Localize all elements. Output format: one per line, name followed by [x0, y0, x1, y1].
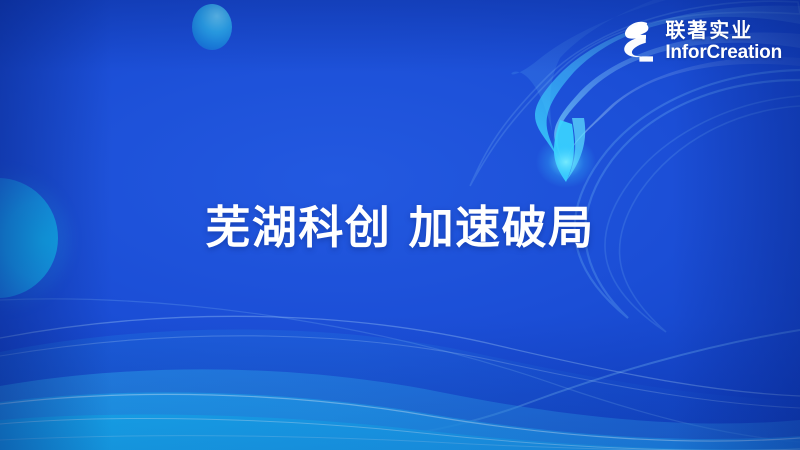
logo-company-cn: 联著实业 [665, 20, 782, 40]
slide-title-container: 芜湖科创 加速破局 [0, 191, 800, 256]
presentation-slide: 联著实业 InforCreation 芜湖科创 加速破局 [0, 0, 800, 450]
logo-company-en: InforCreation [665, 43, 782, 62]
company-logo: 联著实业 InforCreation [619, 18, 782, 64]
infor-creation-monogram-icon [619, 20, 659, 64]
slide-title: 芜湖科创 加速破局 [205, 191, 594, 256]
